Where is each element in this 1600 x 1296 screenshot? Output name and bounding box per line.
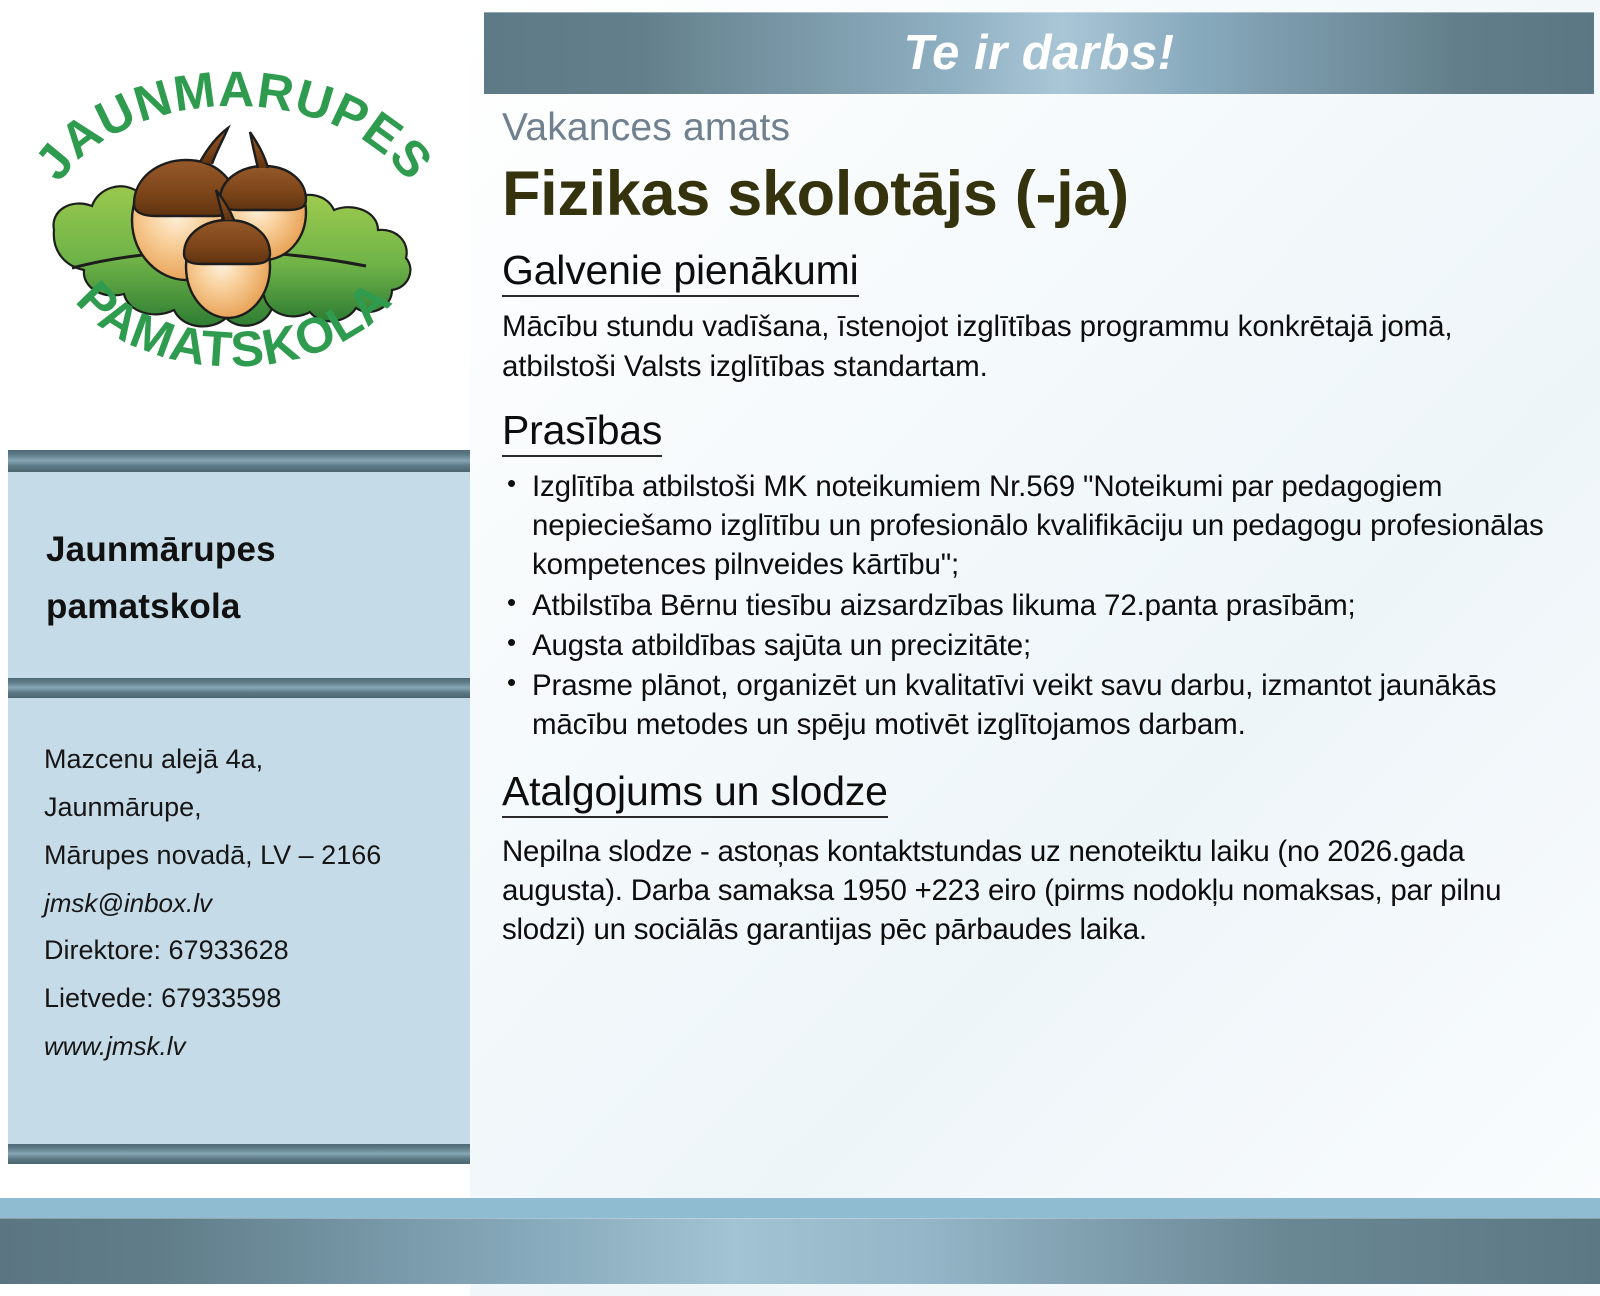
list-item: Izglītība atbilstoši MK noteikumiem Nr.5… xyxy=(502,467,1572,585)
school-name: Jaunmārupes pamatskola xyxy=(46,522,426,635)
school-info-card: Jaunmārupes pamatskola Mazcenu alejā 4a,… xyxy=(8,450,470,1178)
contact-website[interactable]: www.jmsk.lv xyxy=(44,1033,444,1059)
list-item: Augsta atbildības sajūta un precizitāte; xyxy=(502,626,1572,665)
contact-phone-director: Direktore: 67933628 xyxy=(44,937,444,964)
advert-content: Vakances amats Fizikas skolotājs (-ja) G… xyxy=(502,108,1572,954)
contact-email[interactable]: jmsk@inbox.lv xyxy=(44,890,444,916)
list-item: Atbilstība Bērnu tiesību aizsardzības li… xyxy=(502,586,1572,625)
divider-bar-top xyxy=(8,450,470,472)
contact-address-street: Mazcenu alejā 4a, xyxy=(44,746,444,773)
salary-heading: Atalgojums un slodze xyxy=(502,769,888,818)
logo-top-text: JAUNMĀRUPES xyxy=(24,70,444,190)
contact-address-region: Mārupes novadā, LV – 2166 xyxy=(44,842,444,869)
contact-panel: Mazcenu alejā 4a, Jaunmārupe, Mārupes no… xyxy=(8,698,470,1144)
footer-accent-strip xyxy=(0,1198,1600,1218)
section-requirements: Prasības Izglītība atbilstoši MK noteiku… xyxy=(502,408,1572,745)
vacancy-kicker: Vakances amats xyxy=(502,108,1572,147)
duties-heading: Galvenie pienākumi xyxy=(502,248,859,297)
section-salary: Atalgojums un slodze Nepilna slodze - as… xyxy=(502,769,1572,950)
headline-banner: Te ir darbs! xyxy=(484,12,1594,94)
school-name-panel: Jaunmārupes pamatskola xyxy=(8,472,470,678)
requirements-list: Izglītība atbilstoši MK noteikumiem Nr.5… xyxy=(502,467,1572,745)
footer-bar xyxy=(0,1218,1600,1284)
contact-phone-clerk: Lietvede: 67933598 xyxy=(44,985,444,1012)
left-column: JAUNMĀRUPES PAMATSKOLA Jaunmārupes pamat… xyxy=(0,0,470,1296)
right-column: Te ir darbs! Vakances amats Fizikas skol… xyxy=(470,0,1600,1296)
contact-address-village: Jaunmārupe, xyxy=(44,794,444,821)
divider-bar-middle xyxy=(8,678,470,698)
job-advert-poster: JAUNMĀRUPES PAMATSKOLA Jaunmārupes pamat… xyxy=(0,0,1600,1296)
section-duties: Galvenie pienākumi Mācību stundu vadīšan… xyxy=(502,248,1572,386)
divider-bar-bottom xyxy=(8,1144,470,1164)
svg-text:JAUNMĀRUPES: JAUNMĀRUPES xyxy=(24,70,444,190)
acorn-oak-leaf-icon: JAUNMĀRUPES PAMATSKOLA xyxy=(14,70,454,380)
school-logo: JAUNMĀRUPES PAMATSKOLA xyxy=(14,70,454,380)
requirements-heading: Prasības xyxy=(502,408,662,457)
list-item: Prasme plānot, organizēt un kvalitatīvi … xyxy=(502,666,1572,744)
salary-body: Nepilna slodze - astoņas kontaktstundas … xyxy=(502,832,1572,950)
duties-body: Mācību stundu vadīšana, īstenojot izglīt… xyxy=(502,307,1572,385)
page-title: Fizikas skolotājs (-ja) xyxy=(502,163,1572,226)
school-name-line1: Jaunmārupes xyxy=(46,522,426,579)
contact-list: Mazcenu alejā 4a, Jaunmārupe, Mārupes no… xyxy=(44,746,444,1080)
school-name-line2: pamatskola xyxy=(46,579,426,636)
banner-text: Te ir darbs! xyxy=(903,25,1174,81)
